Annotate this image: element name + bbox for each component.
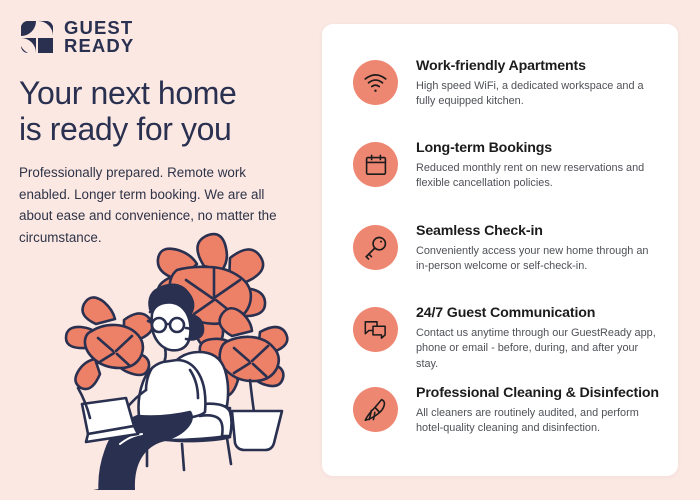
key-icon: [363, 235, 388, 260]
feature-description: All cleaners are routinely audited, and …: [416, 406, 663, 437]
feature-description: Contact us anytime through our GuestRead…: [416, 326, 663, 372]
page-headline: Your next home is ready for you: [19, 76, 309, 148]
brand-wordmark: GUEST READY: [64, 19, 134, 55]
feature-text: Professional Cleaning & Disinfection All…: [416, 385, 663, 437]
headline-line-1: Your next home: [19, 76, 309, 112]
feature-text: Long-term Bookings Reduced monthly rent …: [416, 140, 663, 192]
feature-text: Seamless Check-in Conveniently access yo…: [416, 223, 663, 275]
plant-pot-right: [232, 411, 282, 450]
left-column: GUEST READY Your next home is ready for …: [0, 0, 322, 500]
feature-item[interactable]: Seamless Check-in Conveniently access yo…: [353, 223, 663, 275]
wifi-icon: [363, 70, 388, 95]
feature-icon-badge: [353, 307, 398, 352]
headline-line-2: is ready for you: [19, 112, 309, 148]
brand-line-2: READY: [64, 37, 134, 55]
promo-page: GUEST READY Your next home is ready for …: [0, 0, 700, 500]
feature-item[interactable]: Work-friendly Apartments High speed WiFi…: [353, 58, 663, 110]
feature-text: 24/7 Guest Communication Contact us anyt…: [416, 305, 663, 372]
feature-description: Reduced monthly rent on new reservations…: [416, 161, 663, 192]
plant-left-leaves: [66, 297, 153, 389]
feature-description: Conveniently access your new home throug…: [416, 244, 663, 275]
chat-bubbles-icon: [363, 317, 388, 342]
feature-text: Work-friendly Apartments High speed WiFi…: [416, 58, 663, 110]
feature-description: High speed WiFi, a dedicated workspace a…: [416, 79, 663, 110]
feature-icon-badge: [353, 387, 398, 432]
feature-item[interactable]: Professional Cleaning & Disinfection All…: [353, 385, 663, 437]
feature-title: Work-friendly Apartments: [416, 58, 663, 76]
calendar-icon: [364, 153, 388, 177]
feature-item[interactable]: Long-term Bookings Reduced monthly rent …: [353, 140, 663, 192]
feature-title: Long-term Bookings: [416, 140, 663, 158]
broom-icon: [363, 397, 389, 423]
features-panel: Work-friendly Apartments High speed WiFi…: [322, 24, 678, 476]
feature-title: 24/7 Guest Communication: [416, 305, 663, 323]
feature-title: Professional Cleaning & Disinfection: [416, 385, 663, 403]
brand-logo[interactable]: GUEST READY: [19, 19, 134, 55]
feature-icon-badge: [353, 225, 398, 270]
guestready-quadrant-logo-icon: [19, 19, 55, 55]
feature-item[interactable]: 24/7 Guest Communication Contact us anyt…: [353, 305, 663, 372]
woman-with-laptop-illustration: [34, 228, 306, 490]
feature-title: Seamless Check-in: [416, 223, 663, 241]
feature-icon-badge: [353, 142, 398, 187]
feature-icon-badge: [353, 60, 398, 105]
